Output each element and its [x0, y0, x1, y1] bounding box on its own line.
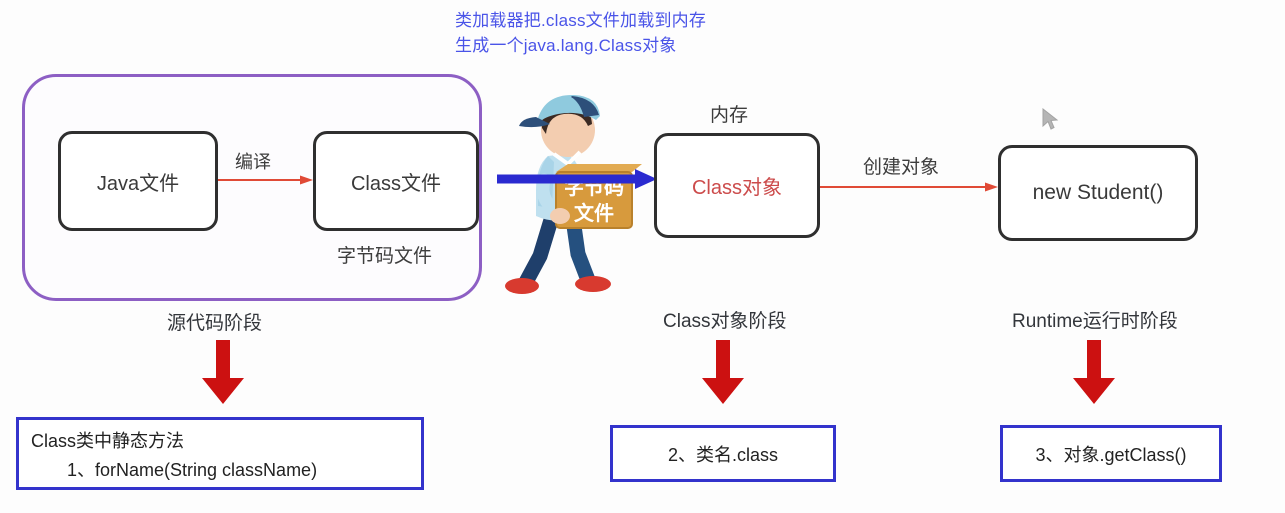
node-java-file-label: Java文件	[97, 167, 179, 196]
node-new-student: new Student()	[998, 145, 1198, 241]
result-box-class-literal: 2、类名.class	[610, 425, 836, 482]
result-box-forname: Class类中静态方法 1、forName(String className)	[16, 417, 424, 490]
stage-label-source: 源代码阶段	[167, 308, 262, 335]
stage-label-class-object: Class对象阶段	[663, 306, 787, 333]
red-down-arrow-icon-class-object	[700, 340, 746, 406]
create-object-arrow-label: 创建对象	[863, 152, 939, 179]
compile-arrow-label: 编译	[235, 148, 271, 174]
memory-caption: 内存	[710, 100, 748, 127]
bytecode-file-caption: 字节码文件	[337, 241, 432, 268]
courier-box-line2: 文件	[574, 201, 614, 225]
compile-arrow-icon	[218, 174, 313, 186]
result-box-getclass: 3、对象.getClass()	[1000, 425, 1222, 482]
result-box-class-literal-label: 2、类名.class	[668, 441, 778, 467]
result-box-forname-item: 1、forName(String className)	[31, 456, 317, 485]
red-down-arrow-icon-runtime	[1071, 340, 1117, 406]
mouse-pointer-icon	[1042, 108, 1060, 132]
node-java-file: Java文件	[58, 131, 218, 231]
result-box-getclass-label: 3、对象.getClass()	[1035, 441, 1186, 467]
top-annotation-text: 类加载器把.class文件加载到内存 生成一个java.lang.Class对象	[455, 8, 706, 58]
result-box-forname-title: Class类中静态方法	[31, 427, 421, 456]
create-object-arrow-icon	[820, 181, 998, 193]
node-new-student-label: new Student()	[1033, 181, 1164, 205]
stage-label-runtime: Runtime运行时阶段	[1012, 306, 1178, 333]
class-loader-arrow-icon	[497, 167, 657, 191]
red-down-arrow-icon-source	[200, 340, 246, 406]
diagram-canvas: 类加载器把.class文件加载到内存 生成一个java.lang.Class对象…	[0, 0, 1285, 513]
node-class-object-label: Class对象	[692, 171, 782, 200]
node-class-file-label: Class文件	[351, 167, 441, 196]
node-class-file: Class文件	[313, 131, 479, 231]
node-class-object: Class对象	[654, 133, 820, 238]
